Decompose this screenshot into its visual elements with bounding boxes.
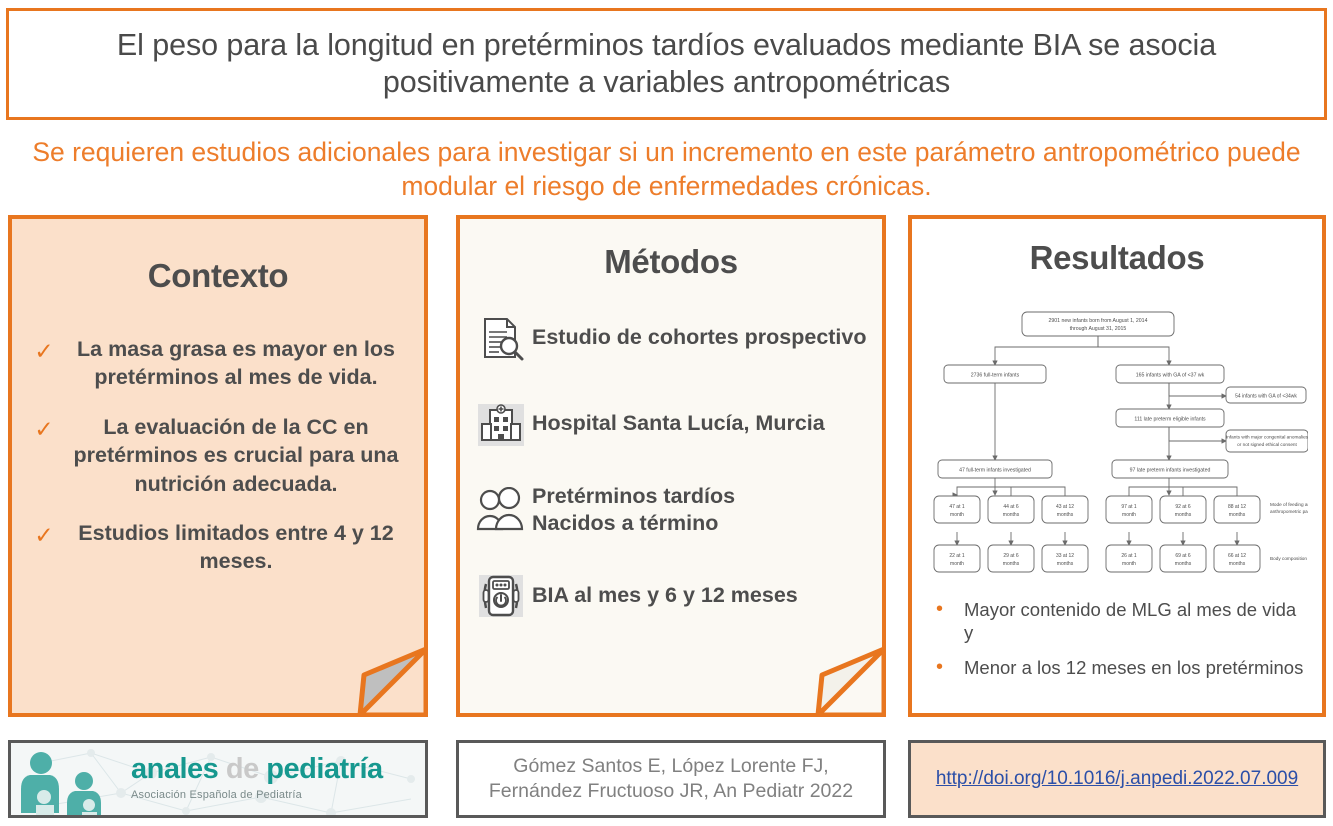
bia-device-icon bbox=[470, 567, 532, 625]
folded-corner-decoration bbox=[792, 623, 886, 717]
panel-resultados: Resultados bbox=[908, 215, 1326, 717]
panel-contexto-title: Contexto bbox=[12, 257, 424, 295]
resultados-bullet-text: Mayor contenido de MLG al mes de vida y bbox=[964, 598, 1306, 644]
logo-word-de: de bbox=[226, 753, 259, 785]
flow-node-root-line2: through August 31, 2015 bbox=[1070, 326, 1127, 332]
list-item: ✓ La evaluación de la CC en pretérminos … bbox=[20, 413, 408, 498]
logo-word-pediatria: pediatría bbox=[266, 753, 382, 785]
panel-metodos: Métodos bbox=[456, 215, 886, 717]
svg-text:month: month bbox=[1122, 512, 1136, 518]
svg-text:months: months bbox=[1229, 561, 1246, 567]
flow-node-eligible: 111 late preterm eligible infants bbox=[1134, 417, 1206, 423]
dot-icon: • bbox=[936, 656, 964, 678]
panel-contexto: Contexto ✓ La masa grasa es mayor en los… bbox=[8, 215, 428, 717]
list-item: ✓ Estudios limitados entre 4 y 12 meses. bbox=[20, 519, 408, 576]
flow-node-preterm: 165 infants with GA of <37 wk bbox=[1136, 373, 1205, 379]
contexto-item-text: La masa grasa es mayor en los pretérmino… bbox=[68, 335, 408, 392]
resultados-bullets: • Mayor contenido de MLG al mes de vida … bbox=[936, 598, 1306, 691]
flow-cell: 44 at 6 bbox=[1003, 504, 1019, 510]
title-box: El peso para la longitud en pretérminos … bbox=[6, 8, 1327, 120]
flow-cell: 43 at 12 bbox=[1056, 504, 1074, 510]
metodos-item-text: Hospital Santa Lucía, Murcia bbox=[532, 410, 825, 437]
flow-row-label-feeding-l1: Mode of feeding and bbox=[1270, 502, 1308, 507]
subtitle-text: Se requieren estudios adicionales para i… bbox=[10, 132, 1323, 208]
flow-row-label-body: Body composition assessment bbox=[1270, 556, 1308, 561]
flow-cell: 47 at 1 bbox=[949, 504, 965, 510]
svg-text:months: months bbox=[1003, 512, 1020, 518]
metodos-item-text: Estudio de cohortes prospectivo bbox=[532, 324, 867, 351]
flow-cell: 88 at 12 bbox=[1228, 504, 1246, 510]
metodos-item-text: BIA al mes y 6 y 12 meses bbox=[532, 582, 798, 609]
list-item: Estudio de cohortes prospectivo bbox=[470, 307, 872, 369]
list-item: ✓ La masa grasa es mayor en los pretérmi… bbox=[20, 335, 408, 392]
flow-node-fullterm: 2736 full-term infants bbox=[971, 373, 1020, 379]
contexto-list: ✓ La masa grasa es mayor en los pretérmi… bbox=[12, 335, 424, 576]
list-item: Hospital Santa Lucía, Murcia bbox=[470, 393, 872, 455]
svg-text:months: months bbox=[1175, 561, 1192, 567]
flow-row-label-feeding-l2: anthropometric parameters bbox=[1270, 509, 1308, 514]
svg-text:month: month bbox=[950, 561, 964, 567]
svg-text:month: month bbox=[1122, 561, 1136, 567]
svg-text:months: months bbox=[1003, 561, 1020, 567]
flow-cell: 66 at 12 bbox=[1228, 553, 1246, 559]
hospital-icon bbox=[470, 395, 532, 453]
contexto-item-text: La evaluación de la CC en pretérminos es… bbox=[68, 413, 408, 498]
flow-node-excluded-other-l2: or not signed ethical consent bbox=[1237, 442, 1297, 447]
resultados-bullet-text: Menor a los 12 meses en los pretérminos bbox=[964, 656, 1303, 679]
svg-text:months: months bbox=[1175, 512, 1192, 518]
panel-resultados-title: Resultados bbox=[912, 239, 1322, 277]
citation-box: Gómez Santos E, López Lorente FJ, Fernán… bbox=[456, 740, 886, 818]
flow-node-preterm-inv: 97 late preterm infants investigated bbox=[1130, 468, 1211, 474]
panel-metodos-title: Métodos bbox=[460, 243, 882, 281]
svg-text:months: months bbox=[1057, 512, 1074, 518]
doi-box: http://doi.org/10.1016/j.anpedi.2022.07.… bbox=[908, 740, 1326, 818]
flow-node-excluded-other-l1: Infants with major congenital anomalies bbox=[1226, 435, 1308, 440]
check-icon: ✓ bbox=[20, 519, 68, 550]
flow-cell: 29 at 6 bbox=[1003, 553, 1019, 559]
logo-word-anales: anales bbox=[131, 753, 218, 785]
list-item: • Menor a los 12 meses en los pretérmino… bbox=[936, 656, 1306, 679]
list-item: Pretérminos tardíos Nacidos a término bbox=[470, 479, 872, 541]
people-group-icon bbox=[470, 481, 532, 539]
flowchart-diagram: 2901 new infants born from August 1, 201… bbox=[926, 299, 1308, 599]
contexto-item-text: Estudios limitados entre 4 y 12 meses. bbox=[68, 519, 408, 576]
logo-subtitle: Asociación Española de Pediatría bbox=[131, 789, 423, 801]
flow-cell: 69 at 6 bbox=[1175, 553, 1191, 559]
journal-logo-box: anales de pediatría Asociación Española … bbox=[8, 740, 428, 818]
flow-cell: 92 at 6 bbox=[1175, 504, 1191, 510]
flow-cell: 97 at 1 bbox=[1121, 504, 1137, 510]
svg-text:months: months bbox=[1229, 512, 1246, 518]
dot-icon: • bbox=[936, 598, 964, 620]
flow-node-fullterm-inv: 47 full-term infants investigated bbox=[959, 468, 1031, 474]
flow-cell: 33 at 12 bbox=[1056, 553, 1074, 559]
document-search-icon bbox=[470, 309, 532, 367]
flow-cell: 26 at 1 bbox=[1121, 553, 1137, 559]
svg-text:month: month bbox=[950, 512, 964, 518]
check-icon: ✓ bbox=[20, 413, 68, 444]
folded-corner-decoration bbox=[334, 623, 428, 717]
doi-link[interactable]: http://doi.org/10.1016/j.anpedi.2022.07.… bbox=[936, 768, 1298, 790]
list-item: BIA al mes y 6 y 12 meses bbox=[470, 565, 872, 627]
metodos-item-text: Pretérminos tardíos Nacidos a término bbox=[532, 483, 735, 537]
check-icon: ✓ bbox=[20, 335, 68, 366]
svg-text:months: months bbox=[1057, 561, 1074, 567]
list-item: • Mayor contenido de MLG al mes de vida … bbox=[936, 598, 1306, 644]
flow-node-excluded-ga: 54 infants with GA of <34wk bbox=[1235, 394, 1297, 400]
page-title: El peso para la longitud en pretérminos … bbox=[27, 27, 1306, 101]
metodos-list: Estudio de cohortes prospectivo bbox=[460, 307, 882, 627]
flow-cell: 22 at 1 bbox=[949, 553, 965, 559]
graphical-abstract-poster: El peso para la longitud en pretérminos … bbox=[0, 0, 1333, 826]
flow-node-root-line1: 2901 new infants born from August 1, 201… bbox=[1049, 318, 1148, 324]
